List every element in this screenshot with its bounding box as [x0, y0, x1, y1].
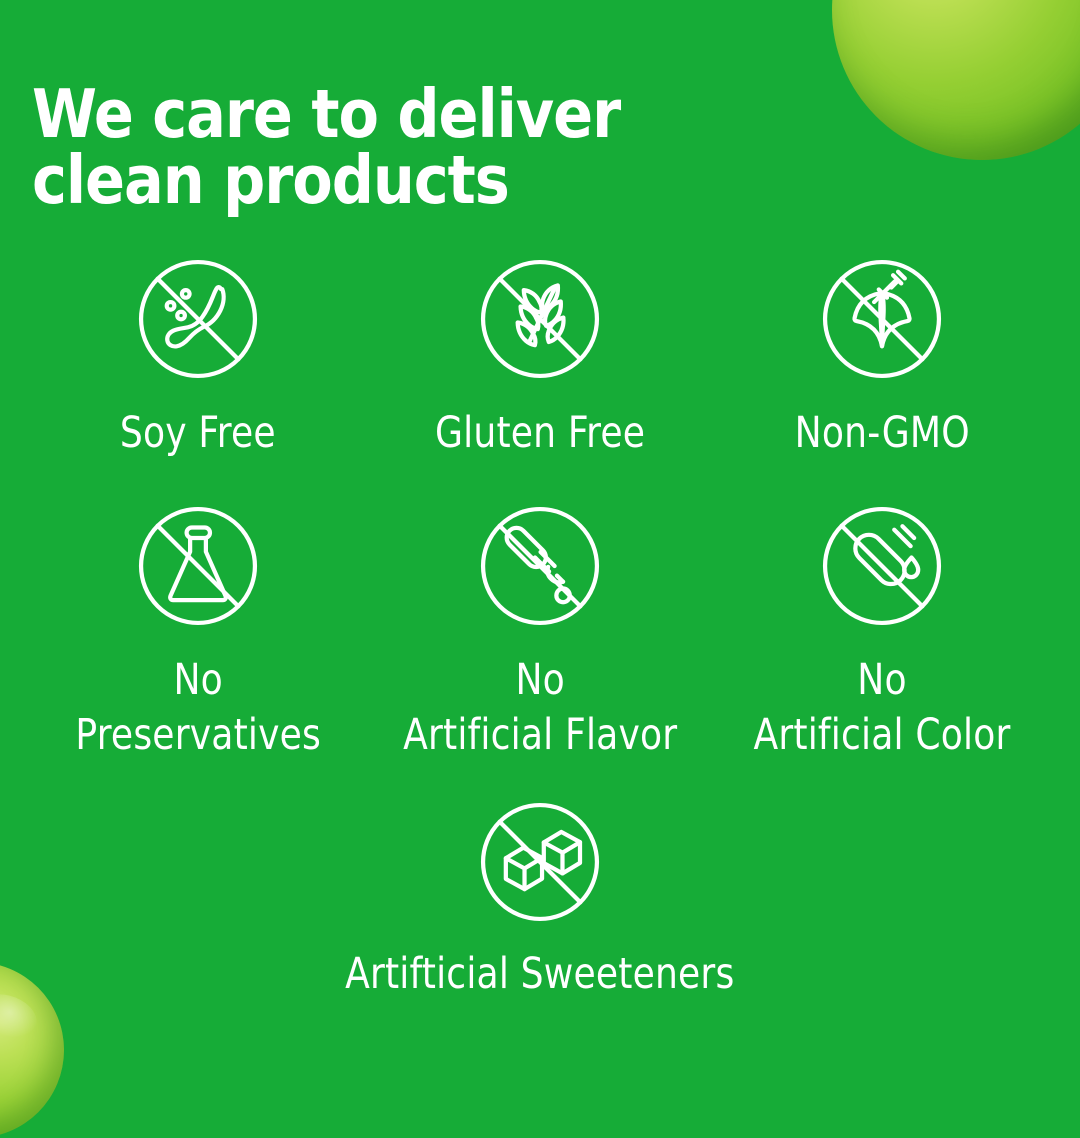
- no-artificial-flavor-dropper-icon: [467, 493, 613, 639]
- badge-label: Artifticial Sweeteners: [345, 947, 734, 1002]
- badge-soy-free: Soy Free: [27, 246, 369, 461]
- badge-non-gmo: Non-GMO: [711, 246, 1053, 461]
- badge-label: No Artificial Color: [753, 653, 1010, 763]
- badge-no-artificial-flavor: No Artificial Flavor: [369, 493, 711, 763]
- badge-row-1: Soy Free Gluten Free: [0, 246, 1080, 461]
- badge-row-3: Artifticial Sweeteners: [0, 789, 1080, 1002]
- badge-label: Soy Free: [120, 406, 276, 461]
- badge-row-2: No Preservatives No Artificial Fl: [0, 493, 1080, 763]
- no-artificial-sweeteners-sugar-cubes-icon: [467, 789, 613, 935]
- badge-label: Gluten Free: [435, 406, 645, 461]
- badge-label: No Artificial Flavor: [403, 653, 677, 763]
- badge-no-artificial-color: No Artificial Color: [711, 493, 1053, 763]
- no-gluten-wheat-icon: [467, 246, 613, 392]
- claims-badge-grid: Soy Free Gluten Free: [0, 246, 1080, 1002]
- badge-no-artificial-sweeteners: Artifticial Sweeteners: [260, 789, 820, 1002]
- non-gmo-syringe-leaf-icon: [809, 246, 955, 392]
- badge-no-preservatives: No Preservatives: [27, 493, 369, 763]
- no-soy-icon: [125, 246, 271, 392]
- no-preservatives-flask-icon: [125, 493, 271, 639]
- badge-label: No Preservatives: [75, 653, 321, 763]
- badge-gluten-free: Gluten Free: [369, 246, 711, 461]
- badge-label: Non-GMO: [794, 406, 969, 461]
- page-title: We care to deliver clean products: [32, 81, 648, 214]
- promo-card: We care to deliver clean products Soy Fr…: [0, 0, 1080, 1080]
- no-artificial-color-test-tube-icon: [809, 493, 955, 639]
